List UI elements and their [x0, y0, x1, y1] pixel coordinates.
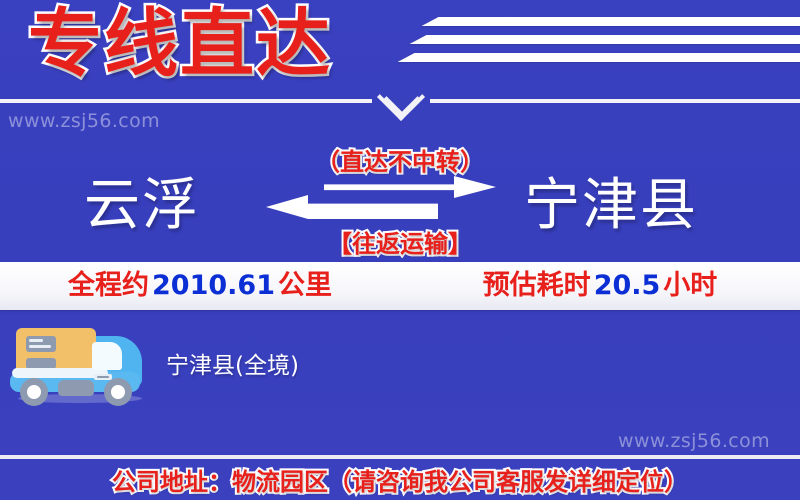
duration-metric: 预估耗时20.5小时 [400, 262, 800, 310]
diagonal-stripe-icon [422, 17, 800, 26]
logistics-route-banner: 专线直达 www.zsj56.com www.zsj56.com 云浮 宁津县 … [0, 0, 800, 500]
arrow-left-icon [266, 195, 438, 219]
distance-value: 2010.61 [149, 270, 278, 301]
duration-value: 20.5 [591, 270, 664, 301]
divider-line [0, 99, 372, 103]
truck-wheel [20, 378, 48, 406]
distance-unit-label: 公里 [278, 270, 332, 301]
distance-metric: 全程约2010.61公里 [0, 262, 400, 310]
duration-unit-label: 小时 [663, 270, 717, 301]
round-trip-badge: 【往返运输】 [0, 224, 800, 259]
watermark-bottom: www.zsj56.com [618, 430, 770, 452]
diagonal-stripe-icon [410, 35, 800, 44]
banner-headline: 专线直达 [28, 3, 332, 86]
distance-prefix-label: 全程约 [68, 270, 149, 301]
coverage-area-label: 宁津县(全境) [166, 346, 299, 380]
direct-service-badge: （直达不中转） [0, 142, 800, 177]
truck-window [92, 342, 122, 370]
duration-prefix-label: 预估耗时 [483, 270, 591, 301]
footer-divider [0, 455, 800, 459]
truck-fuel-tank [58, 380, 94, 396]
delivery-truck-icon [4, 316, 152, 408]
bidirectional-arrow-icon [266, 176, 496, 220]
arrow-right-icon [324, 176, 496, 198]
divider-line [430, 99, 800, 103]
truck-grille [94, 374, 112, 380]
cargo-label-top [26, 336, 56, 352]
metrics-bar: 全程约2010.61公里 预估耗时20.5小时 [0, 262, 800, 310]
company-address-footer: 公司地址：物流园区（请咨询我公司客服发详细定位） [0, 462, 800, 497]
truck-wheel [104, 378, 132, 406]
diagonal-stripe-icon [398, 53, 800, 62]
watermark-top: www.zsj56.com [8, 110, 160, 132]
